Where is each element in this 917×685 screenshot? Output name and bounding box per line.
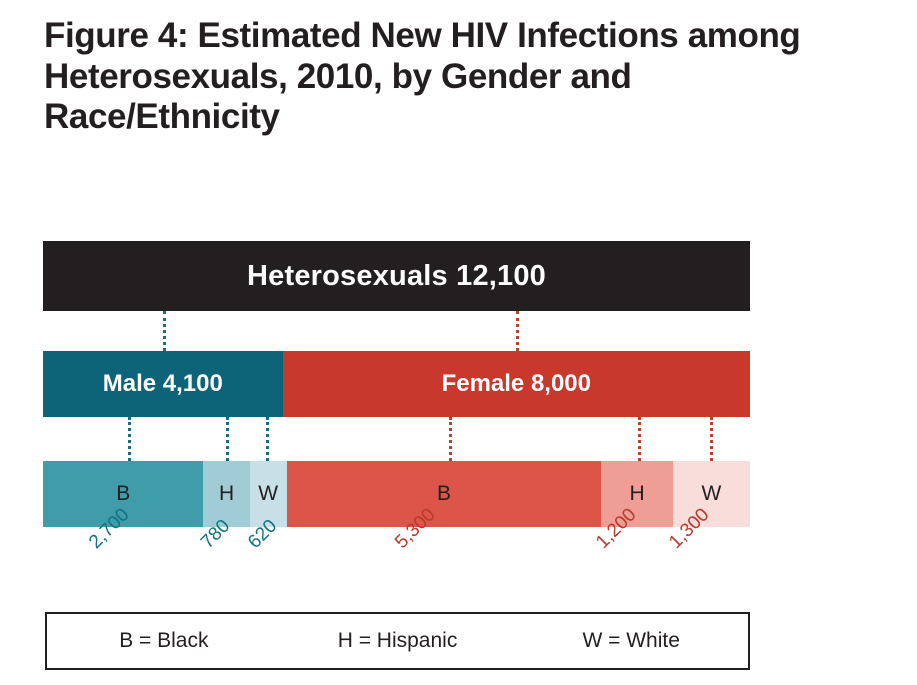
connector-male-to-hispanic <box>226 417 229 461</box>
race-bar-row: B H W B H W <box>43 461 750 527</box>
bar-segment-female[interactable]: Female 8,000 <box>283 351 750 417</box>
connector-total-to-female <box>516 311 519 351</box>
connector-female-to-hispanic <box>638 417 641 461</box>
legend: B = Black H = Hispanic W = White <box>45 612 750 670</box>
bar-segment-male[interactable]: Male 4,100 <box>43 351 283 417</box>
total-bar-row: Heterosexuals 12,100 <box>43 241 750 311</box>
bar-segment-female-black[interactable]: B <box>287 461 602 527</box>
gender-bar-row: Male 4,100 Female 8,000 <box>43 351 750 417</box>
connector-male-to-black <box>128 417 131 461</box>
connector-male-to-white <box>266 417 269 461</box>
connector-total-to-male <box>163 311 166 351</box>
stacked-bar-chart: Heterosexuals 12,100 Male 4,100 Female 8… <box>0 0 917 685</box>
legend-item-white: W = White <box>514 629 748 653</box>
bar-segment-heterosexuals-total[interactable]: Heterosexuals 12,100 <box>43 241 750 311</box>
bar-segment-male-hispanic[interactable]: H <box>203 461 249 527</box>
connector-female-to-white <box>710 417 713 461</box>
connector-female-to-black <box>449 417 452 461</box>
legend-item-hispanic: H = Hispanic <box>281 629 515 653</box>
legend-item-black: B = Black <box>47 629 281 653</box>
